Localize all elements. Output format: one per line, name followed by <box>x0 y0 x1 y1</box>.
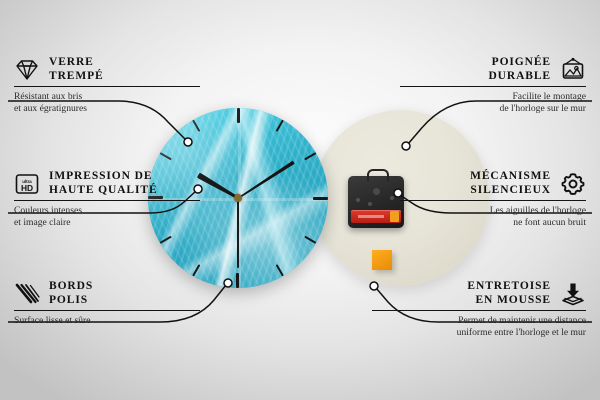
callout-title-line2: HAUTE QUALITÉ <box>49 184 158 196</box>
mechanism-shaft <box>373 188 380 195</box>
callout-bords-polis: BORDS POLIS Surface lisse et sûre <box>14 280 200 327</box>
callout-verre-trempe: VERRE TREMPÉ Résistant aux bris et aux é… <box>14 56 200 115</box>
callout-rule <box>14 200 200 201</box>
svg-text:HD: HD <box>21 182 33 192</box>
callout-rule <box>14 310 200 311</box>
callout-rule <box>14 86 200 87</box>
callout-title-line1: MÉCANISME <box>470 170 551 182</box>
foam-spacer <box>372 250 392 270</box>
callout-poignee-durable: POIGNÉE DURABLE Facilite le montage de l… <box>400 56 586 115</box>
callout-title-line2: SILENCIEUX <box>470 184 551 196</box>
callout-impression-haute-qualite: ultra HD IMPRESSION DE HAUTE QUALITÉ Cou… <box>14 170 200 229</box>
callout-title-line2: EN MOUSSE <box>475 294 551 306</box>
callout-title-line1: BORDS <box>49 280 93 292</box>
ultra-hd-icon: ultra HD <box>14 171 40 197</box>
infographic-stage: VERRE TREMPÉ Résistant aux bris et aux é… <box>0 0 600 400</box>
hanging-frame-icon <box>560 57 586 83</box>
diamond-icon <box>14 57 40 83</box>
callout-desc-line1: Résistant aux bris <box>14 91 82 102</box>
battery <box>351 210 401 223</box>
callout-rule <box>400 86 586 87</box>
callout-rule <box>372 310 586 311</box>
callout-title-line1: VERRE <box>49 56 94 68</box>
callout-desc-line2: ne font aucun bruit <box>513 217 586 228</box>
callout-title-line2: DURABLE <box>488 70 551 82</box>
callout-title-line1: ENTRETOISE <box>467 280 551 292</box>
callout-desc-line1: Couleurs intenses <box>14 205 82 216</box>
callout-title-line2: TREMPÉ <box>49 70 104 82</box>
callout-desc-line2: et image claire <box>14 217 70 228</box>
callout-entretoise-en-mousse: ENTRETOISE EN MOUSSE Permet de maintenir… <box>372 280 586 339</box>
polished-edges-icon <box>14 281 40 307</box>
callout-desc-line2: de l'horloge sur le mur <box>500 103 586 114</box>
callout-title-line1: IMPRESSION DE <box>49 170 152 182</box>
callout-title-line2: POLIS <box>49 294 88 306</box>
callout-desc-line2: uniforme entre l'horloge et le mur <box>457 327 586 338</box>
callout-desc-line1: Facilite le montage <box>512 91 586 102</box>
foam-spacer-icon <box>560 281 586 307</box>
callout-desc-line1: Les aiguilles de l'horloge <box>490 205 586 216</box>
mechanism-hanger <box>367 169 389 181</box>
callout-desc-line1: Surface lisse et sûre <box>14 315 90 326</box>
clock-mechanism <box>348 176 404 228</box>
gear-icon <box>560 171 586 197</box>
callout-title-line1: POIGNÉE <box>492 56 551 68</box>
callout-desc-line1: Permet de maintenir une distance <box>458 315 586 326</box>
callout-desc-line2: et aux égratignures <box>14 103 87 114</box>
callout-mecanisme-silencieux: MÉCANISME SILENCIEUX Les aiguilles de l'… <box>400 170 586 229</box>
callout-rule <box>400 200 586 201</box>
